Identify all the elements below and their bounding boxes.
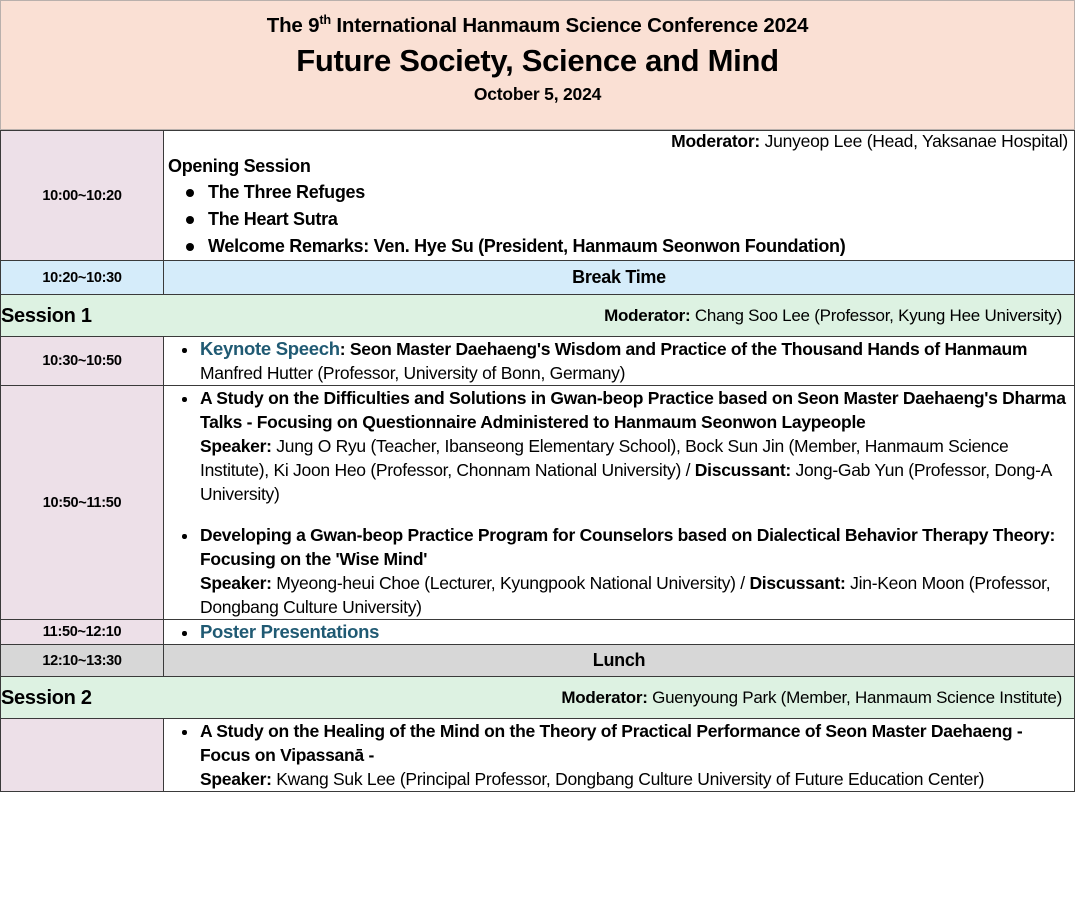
speaker-names: Kwang Suk Lee (Principal Professor, Dong…: [272, 769, 985, 789]
speaker-label: Speaker:: [200, 436, 272, 456]
papers-1-cell: A Study on the Difficulties and Solution…: [164, 386, 1075, 620]
discussant-label: Discussant:: [749, 573, 845, 593]
break-time-label: Break Time: [164, 261, 1075, 295]
speaker-names: Myeong-heui Choe (Lecturer, Kyungpook Na…: [272, 573, 750, 593]
ordinal-suffix: th: [319, 12, 331, 27]
time-slot-lunch: 12:10~13:30: [1, 645, 164, 677]
discussant-label: Discussant:: [695, 460, 791, 480]
time-slot-break: 10:20~10:30: [1, 261, 164, 295]
session-2-name: Session 2: [1, 685, 92, 711]
page-title: Future Society, Science and Mind: [1, 42, 1074, 81]
paper-people: Speaker: Jung O Ryu (Teacher, Ibanseong …: [200, 434, 1074, 506]
conference-subtitle: The 9th International Hanmaum Science Co…: [1, 14, 1074, 39]
speaker-label: Speaker:: [200, 573, 272, 593]
list-item: A Study on the Healing of the Mind on th…: [196, 719, 1074, 791]
list-item: Poster Presentations: [196, 620, 1074, 644]
paper-title: A Study on the Healing of the Mind on th…: [200, 719, 1074, 767]
papers-2-cell: A Study on the Healing of the Mind on th…: [164, 719, 1075, 792]
opening-session-cell: Moderator: Junyeop Lee (Head, Yaksanae H…: [164, 131, 1075, 261]
session-2-moderator: Moderator: Guenyoung Park (Member, Hanma…: [561, 688, 1062, 708]
list-item: Keynote Speech: Seon Master Daehaeng's W…: [196, 337, 1074, 385]
moderator-name: Chang Soo Lee (Professor, Kyung Hee Univ…: [690, 306, 1062, 325]
papers-1-items: A Study on the Difficulties and Solution…: [164, 386, 1074, 619]
lunch-label: Lunch: [164, 645, 1075, 677]
list-item: Developing a Gwan-beop Practice Program …: [196, 523, 1074, 619]
moderator-name: Guenyoung Park (Member, Hanmaum Science …: [648, 688, 1062, 707]
moderator-label: Moderator:: [671, 131, 760, 151]
table-row: 12:10~13:30 Lunch: [1, 645, 1075, 677]
conference-date: October 5, 2024: [1, 84, 1074, 105]
keynote-cell: Keynote Speech: Seon Master Daehaeng's W…: [164, 337, 1075, 386]
moderator-label: Moderator:: [604, 306, 690, 325]
speaker-label: Speaker:: [200, 769, 272, 789]
moderator-name: Junyeop Lee (Head, Yaksanae Hospital): [760, 131, 1068, 151]
paper-title: A Study on the Difficulties and Solution…: [200, 386, 1074, 434]
paper-people: Speaker: Kwang Suk Lee (Principal Profes…: [200, 767, 1074, 791]
conference-header-banner: The 9th International Hanmaum Science Co…: [0, 0, 1075, 130]
conference-program-page: The 9th International Hanmaum Science Co…: [0, 0, 1075, 905]
poster-items: Poster Presentations: [164, 620, 1074, 644]
keynote-title-line: Keynote Speech: Seon Master Daehaeng's W…: [200, 337, 1074, 361]
session-2-band: Session 2 Moderator: Guenyoung Park (Mem…: [1, 677, 1075, 719]
table-row: A Study on the Healing of the Mind on th…: [1, 719, 1075, 792]
table-row: Session 1 Moderator: Chang Soo Lee (Prof…: [1, 295, 1075, 337]
paper-title: Developing a Gwan-beop Practice Program …: [200, 523, 1074, 571]
session-1-moderator: Moderator: Chang Soo Lee (Professor, Kyu…: [604, 306, 1062, 326]
session-1-name: Session 1: [1, 303, 92, 329]
keynote-title: : Seon Master Daehaeng's Wisdom and Prac…: [340, 339, 1027, 359]
opening-session-title: Opening Session: [164, 156, 1074, 177]
opening-moderator: Moderator: Junyeop Lee (Head, Yaksanae H…: [164, 131, 1074, 152]
keynote-items: Keynote Speech: Seon Master Daehaeng's W…: [164, 337, 1074, 385]
table-row: 10:30~10:50 Keynote Speech: Seon Master …: [1, 337, 1075, 386]
moderator-label: Moderator:: [561, 688, 647, 707]
table-row: Session 2 Moderator: Guenyoung Park (Mem…: [1, 677, 1075, 719]
keynote-speech-tag: Keynote Speech: [200, 338, 340, 359]
table-row: 10:00~10:20 Moderator: Junyeop Lee (Head…: [1, 131, 1075, 261]
time-slot-papers-1: 10:50~11:50: [1, 386, 164, 620]
session-1-band: Session 1 Moderator: Chang Soo Lee (Prof…: [1, 295, 1075, 337]
time-slot-poster: 11:50~12:10: [1, 620, 164, 645]
paper-people: Speaker: Myeong-heui Choe (Lecturer, Kyu…: [200, 571, 1074, 619]
poster-cell: Poster Presentations: [164, 620, 1075, 645]
time-slot-opening: 10:00~10:20: [1, 131, 164, 261]
opening-session-items: The Three Refuges The Heart Sutra Welcom…: [164, 179, 1074, 260]
list-item: The Three Refuges: [206, 179, 1074, 206]
papers-2-items: A Study on the Healing of the Mind on th…: [164, 719, 1074, 791]
list-item: Welcome Remarks: Ven. Hye Su (President,…: [206, 233, 1074, 260]
keynote-speaker: Manfred Hutter (Professor, University of…: [200, 361, 1074, 385]
time-slot-keynote: 10:30~10:50: [1, 337, 164, 386]
conference-subtitle-pre: The 9: [267, 14, 320, 37]
table-row: 11:50~12:10 Poster Presentations: [1, 620, 1075, 645]
schedule-table: 10:00~10:20 Moderator: Junyeop Lee (Head…: [0, 130, 1075, 792]
poster-presentations-label: Poster Presentations: [200, 620, 1074, 644]
table-row: 10:20~10:30 Break Time: [1, 261, 1075, 295]
list-item: A Study on the Difficulties and Solution…: [196, 386, 1074, 506]
conference-subtitle-post: International Hanmaum Science Conference…: [331, 14, 808, 37]
table-row: 10:50~11:50 A Study on the Difficulties …: [1, 386, 1075, 620]
list-item: The Heart Sutra: [206, 206, 1074, 233]
time-slot-papers-2: [1, 719, 164, 792]
